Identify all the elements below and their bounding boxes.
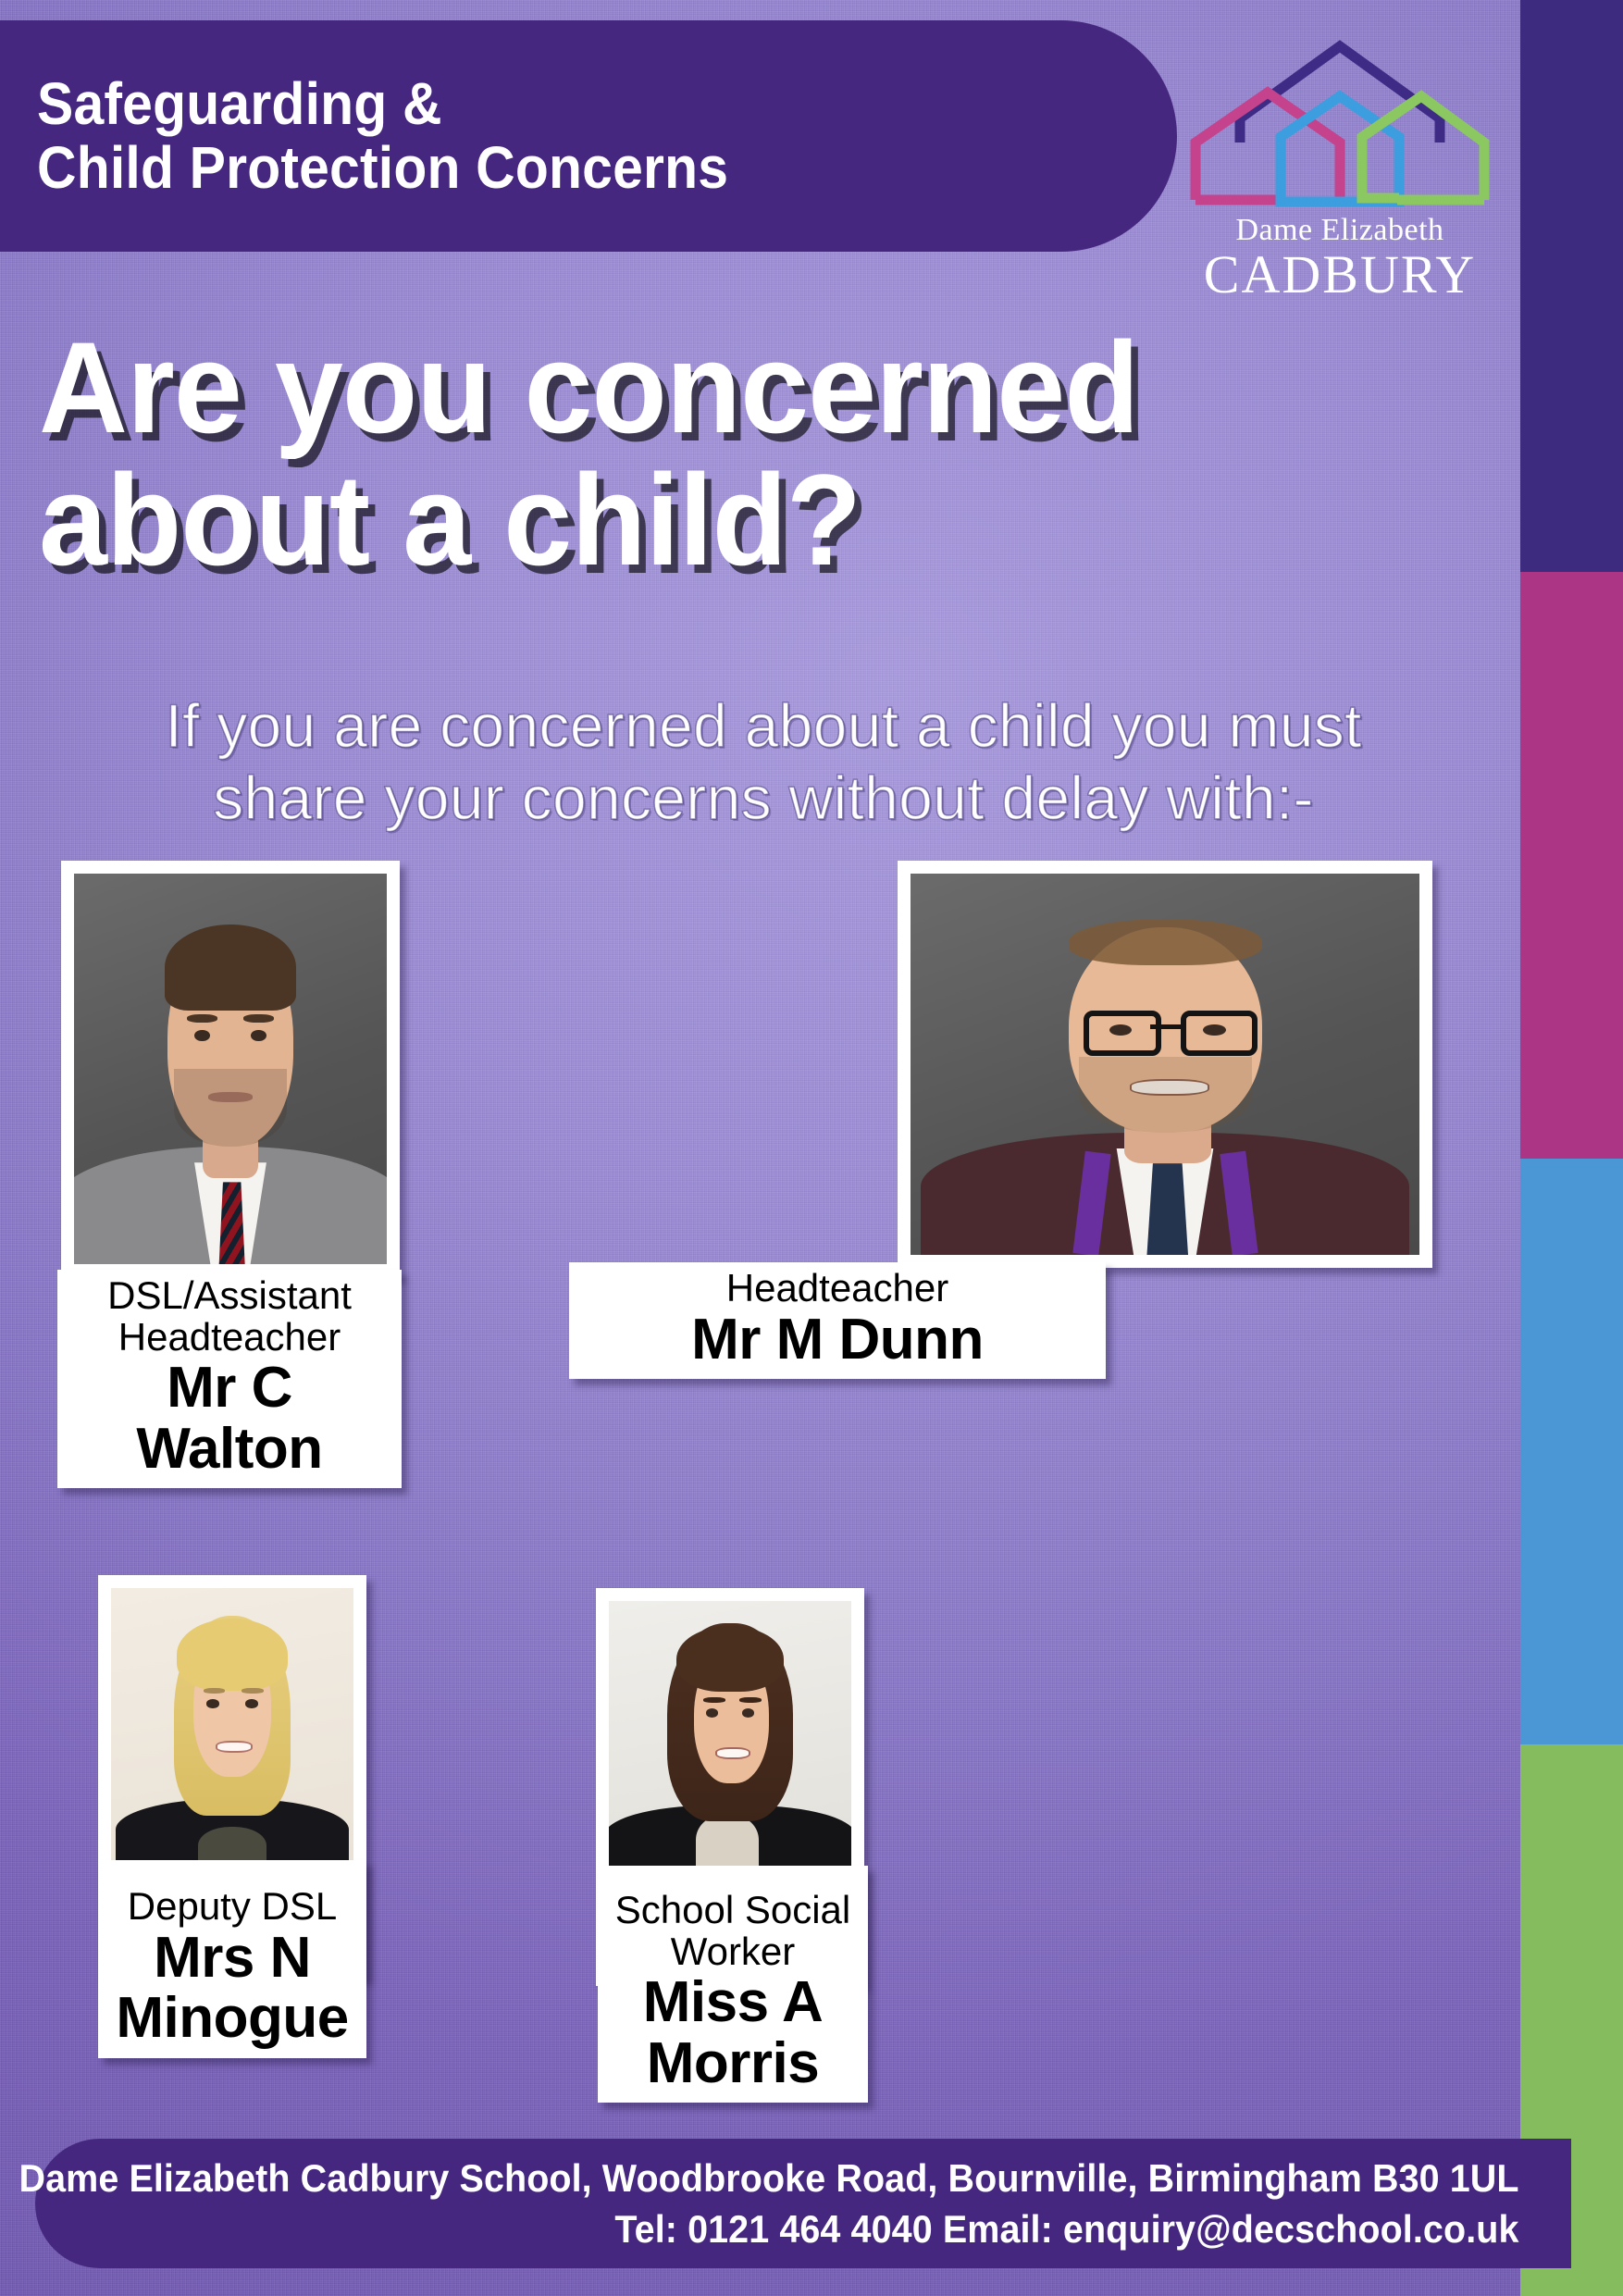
logo-houses-icon: [1183, 33, 1497, 218]
person-role-2: Deputy DSL: [111, 1886, 353, 1928]
footer-banner: Dame Elizabeth Cadbury School, Woodbrook…: [35, 2139, 1571, 2268]
caption-box-3: School Social Worker Miss A Morris: [598, 1866, 868, 2103]
header-title: Safeguarding & Child Protection Concerns: [37, 72, 728, 200]
photo-frame-1: [898, 861, 1432, 1268]
person-name-2: Mrs N Minogue: [111, 1928, 353, 2049]
logo-surname-line: CADBURY: [1183, 248, 1497, 302]
colour-block-pink: [1520, 572, 1623, 1159]
footer-address: Dame Elizabeth Cadbury School, Woodbrook…: [19, 2153, 1519, 2203]
person-role-3: School Social Worker: [611, 1890, 855, 1972]
caption-box-0: DSL/Assistant Headteacher Mr C Walton: [57, 1270, 402, 1488]
page-subheadline: If you are concerned about a child you m…: [19, 690, 1508, 835]
caption-box-1: Headteacher Mr M Dunn: [569, 1262, 1106, 1379]
person-card-1: Headteacher Mr M Dunn: [898, 861, 1432, 1268]
logo-name-line: Dame Elizabeth: [1183, 215, 1497, 246]
person-name-0: Mr C Walton: [70, 1358, 389, 1479]
footer-contact: Tel: 0121 464 4040 Email: enquiry@decsch…: [615, 2203, 1519, 2254]
person-card-0: DSL/Assistant Headteacher Mr C Walton: [61, 861, 400, 1277]
person-card-3: School Social Worker Miss A Morris: [596, 1588, 864, 1986]
photo-frame-0: [61, 861, 400, 1277]
caption-box-2: Deputy DSL Mrs N Minogue: [98, 1860, 366, 2058]
person-role-0: DSL/Assistant Headteacher: [70, 1275, 389, 1358]
person-name-3: Miss A Morris: [611, 1972, 855, 2093]
school-logo: Dame Elizabeth CADBURY: [1183, 33, 1497, 302]
portrait-photo-2: [111, 1588, 353, 1866]
colour-strip: [1520, 0, 1623, 2296]
colour-block-blue: [1520, 1159, 1623, 1744]
portrait-photo-3: [609, 1601, 851, 1877]
person-name-1: Mr M Dunn: [582, 1309, 1093, 1371]
header-banner: Safeguarding & Child Protection Concerns: [0, 20, 1177, 252]
page-headline: Are you concerned about a child?: [39, 322, 1437, 587]
portrait-photo-1: [911, 874, 1419, 1255]
poster-canvas: Safeguarding & Child Protection Concerns…: [0, 0, 1623, 2296]
colour-block-purple: [1520, 0, 1623, 572]
person-role-1: Headteacher: [582, 1268, 1093, 1309]
person-card-2: Deputy DSL Mrs N Minogue: [98, 1575, 366, 1979]
portrait-photo-0: [74, 874, 387, 1264]
